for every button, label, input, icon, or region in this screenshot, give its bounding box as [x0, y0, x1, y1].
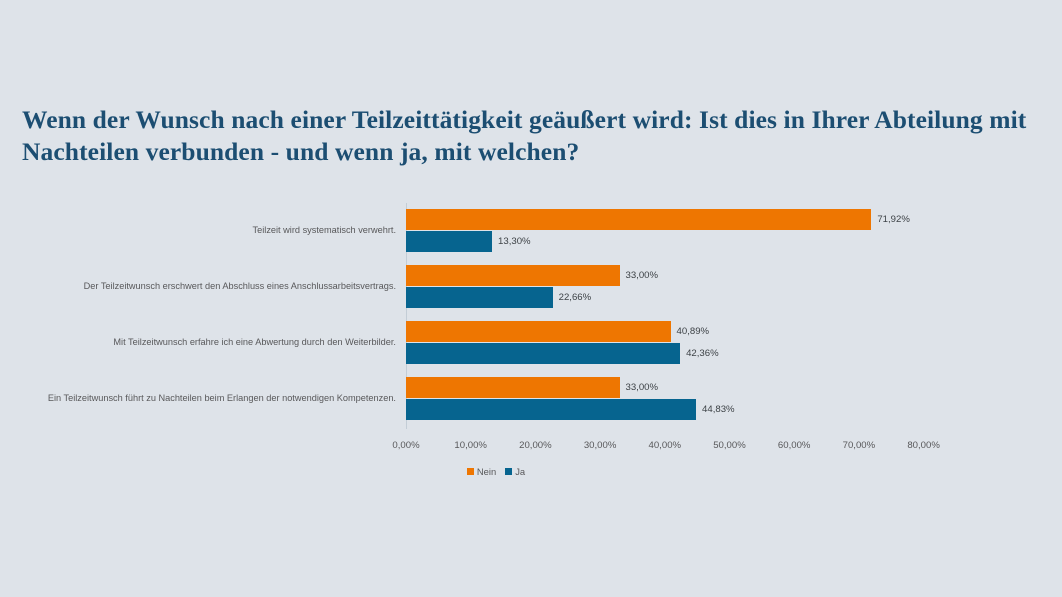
- x-axis-tick-label: 30,00%: [570, 440, 630, 452]
- chart-legend: NeinJa: [406, 466, 586, 477]
- bar-ja[interactable]: [406, 343, 680, 364]
- x-axis-tick-label: 0,00%: [376, 440, 436, 452]
- category-label-text: Mit Teilzeitwunsch erfahre ich eine Abwe…: [113, 337, 396, 348]
- bar-ja[interactable]: [406, 287, 553, 308]
- legend-item-nein[interactable]: Nein: [467, 466, 496, 477]
- bar-nein[interactable]: [406, 265, 620, 286]
- category-label-text: Der Teilzeitwunsch erschwert den Abschlu…: [84, 281, 396, 292]
- bar-nein[interactable]: [406, 377, 620, 398]
- category-label-text: Teilzeit wird systematisch verwehrt.: [253, 225, 396, 236]
- legend-label: Ja: [515, 466, 525, 477]
- x-axis-tick-label: 50,00%: [700, 440, 760, 452]
- slide-canvas: Wenn der Wunsch nach einer Teilzeittätig…: [0, 0, 1062, 597]
- bar-nein[interactable]: [406, 209, 871, 230]
- bar-value-label: 44,83%: [702, 399, 735, 420]
- x-axis-tick-label: 20,00%: [505, 440, 565, 452]
- category-label: Der Teilzeitwunsch erschwert den Abschlu…: [0, 281, 396, 292]
- category-label: Ein Teilzeitwunsch führt zu Nachteilen b…: [0, 393, 396, 404]
- bar-ja[interactable]: [406, 231, 492, 252]
- x-axis-tick-label: 10,00%: [441, 440, 501, 452]
- horizontal-bar-chart: Teilzeit wird systematisch verwehrt.71,9…: [0, 0, 1062, 597]
- bar-value-label: 13,30%: [498, 231, 531, 252]
- bar-value-label: 71,92%: [877, 209, 910, 230]
- category-label: Mit Teilzeitwunsch erfahre ich eine Abwe…: [0, 337, 396, 348]
- x-axis-tick-label: 80,00%: [894, 440, 954, 452]
- legend-item-ja[interactable]: Ja: [505, 466, 525, 477]
- bar-value-label: 42,36%: [686, 343, 719, 364]
- category-label-text: Ein Teilzeitwunsch führt zu Nachteilen b…: [48, 393, 396, 404]
- legend-swatch-icon: [467, 468, 474, 475]
- bar-value-label: 22,66%: [559, 287, 592, 308]
- legend-label: Nein: [477, 466, 496, 477]
- category-label: Teilzeit wird systematisch verwehrt.: [0, 225, 396, 236]
- bar-value-label: 33,00%: [626, 265, 659, 286]
- legend-swatch-icon: [505, 468, 512, 475]
- x-axis-tick-label: 70,00%: [829, 440, 889, 452]
- bar-nein[interactable]: [406, 321, 671, 342]
- x-axis-tick-label: 60,00%: [764, 440, 824, 452]
- bar-ja[interactable]: [406, 399, 696, 420]
- bar-value-label: 40,89%: [677, 321, 710, 342]
- bar-value-label: 33,00%: [626, 377, 659, 398]
- x-axis-tick-label: 40,00%: [635, 440, 695, 452]
